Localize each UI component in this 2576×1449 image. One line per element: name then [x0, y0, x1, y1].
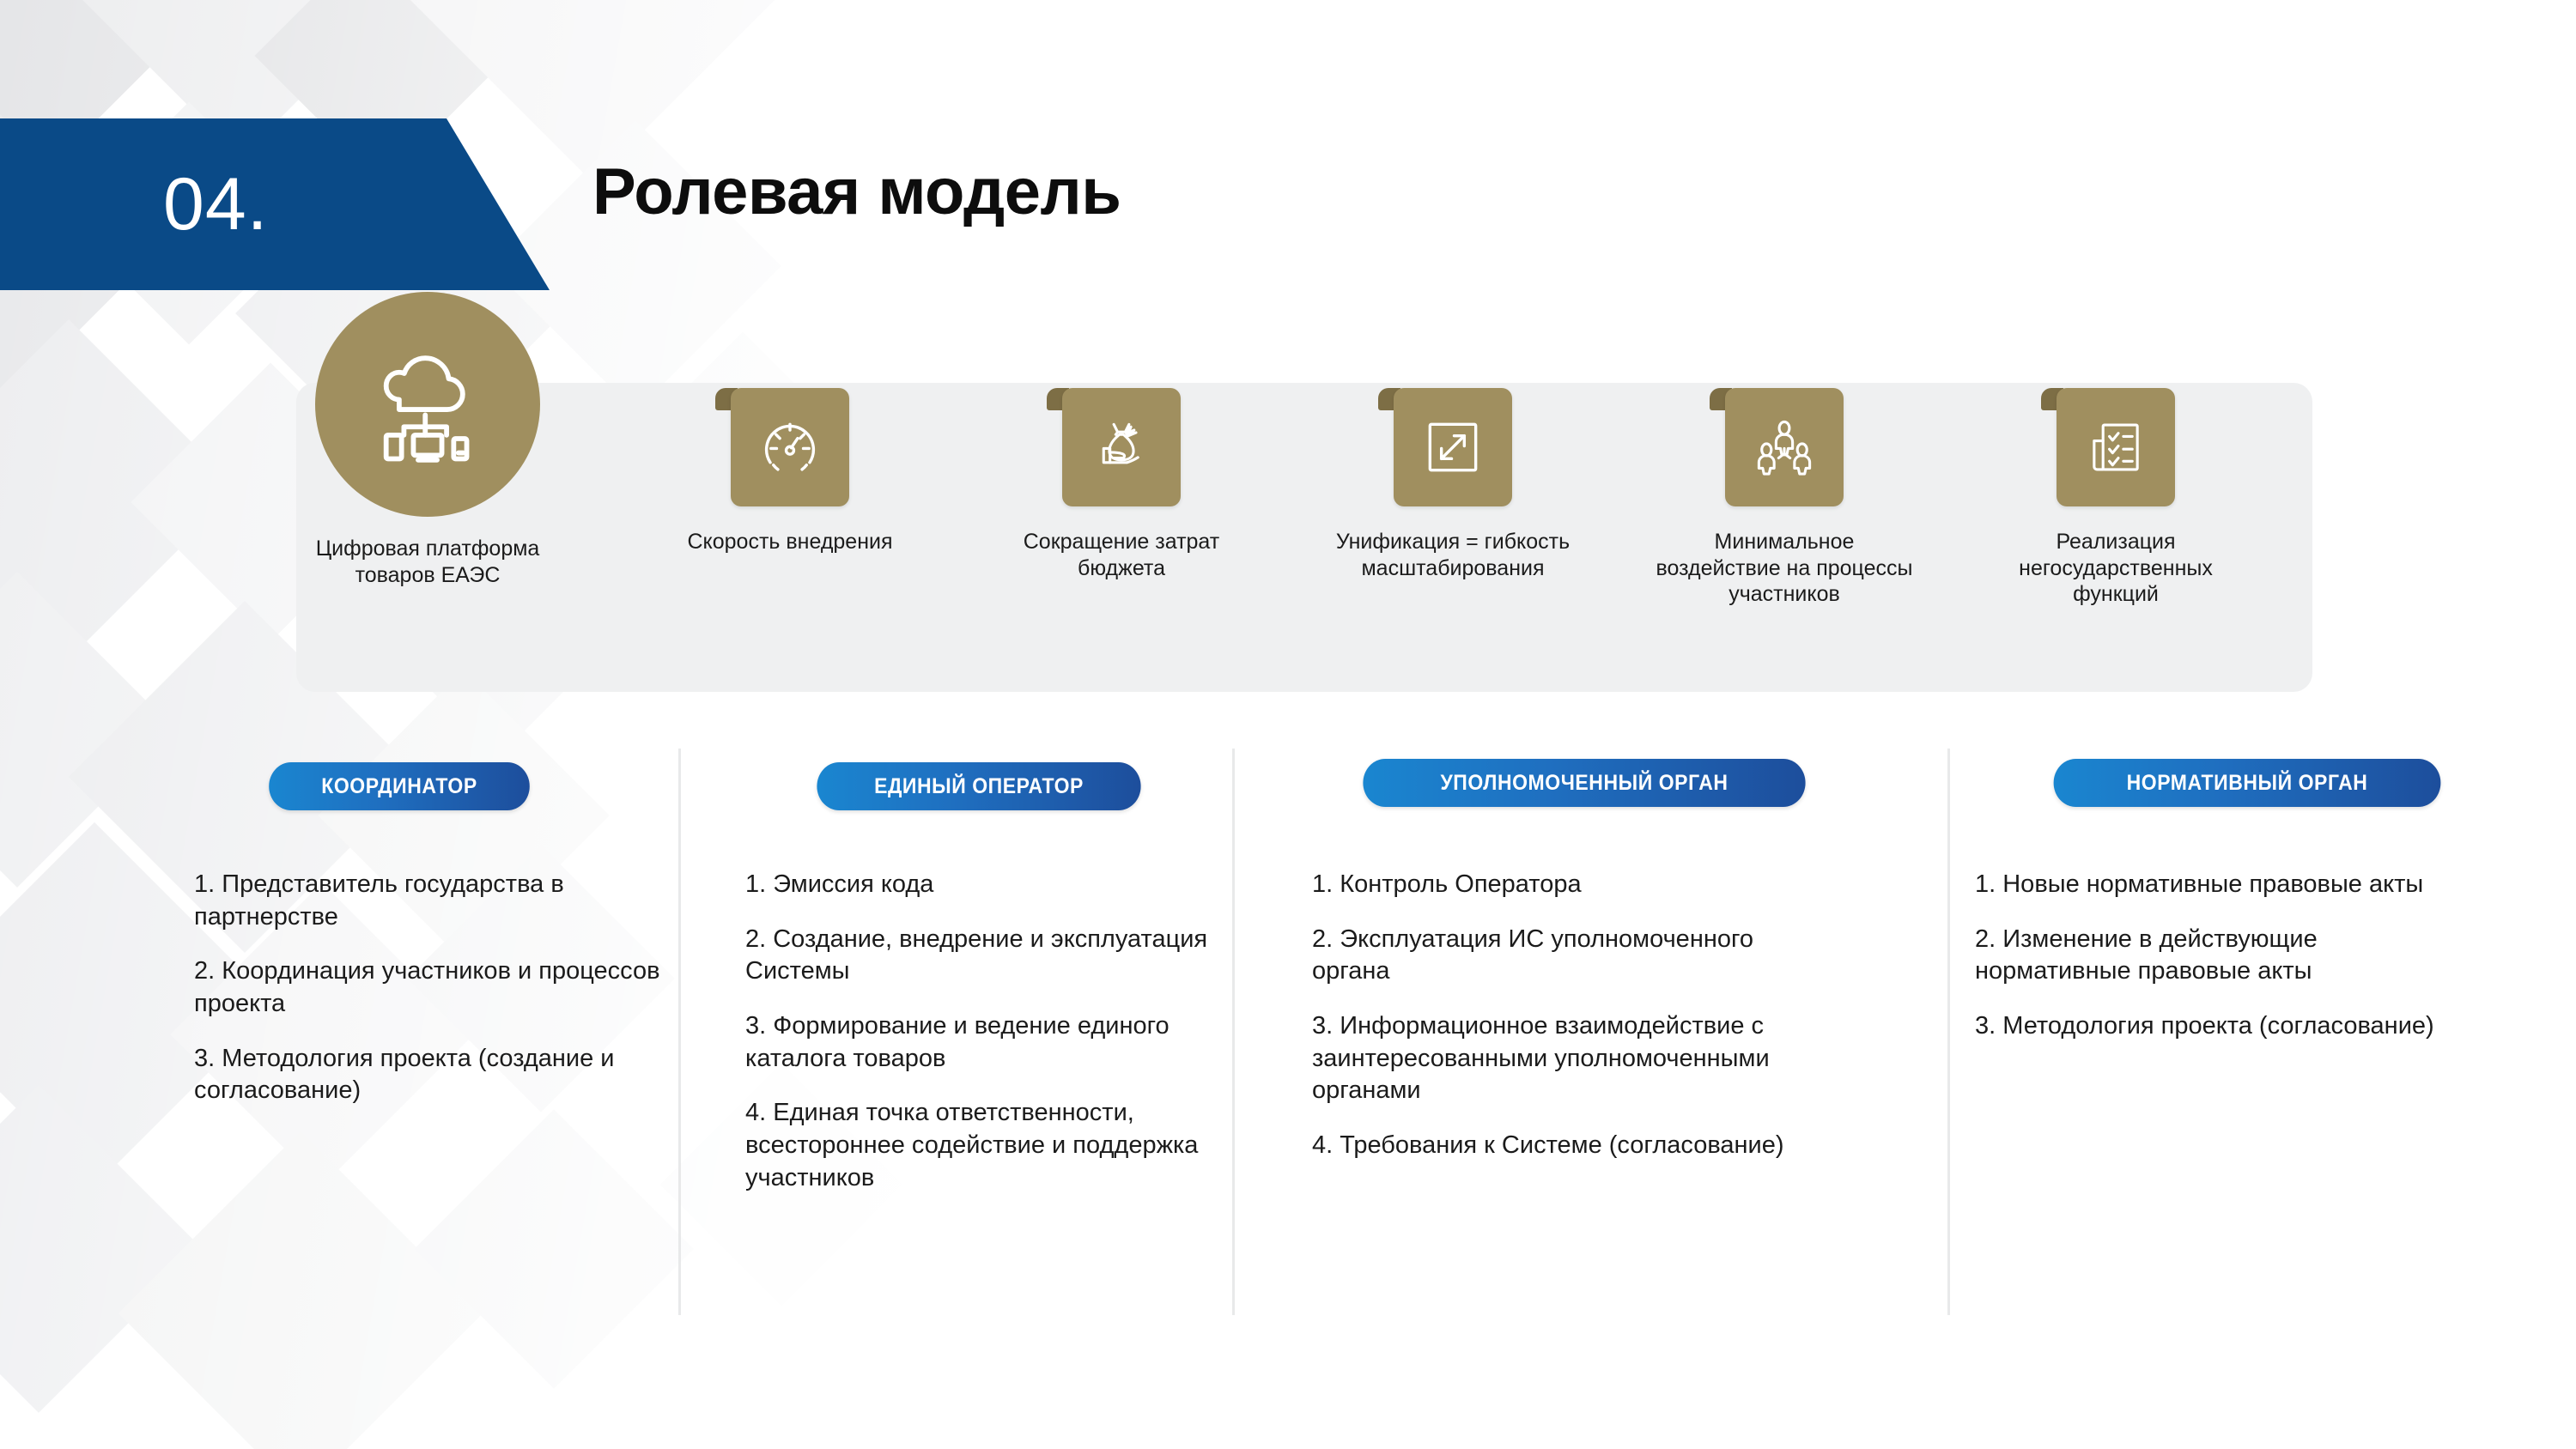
role-column-authorized-body: 1. Контроль Оператора 2. Эксплуатация ИС… [1312, 869, 1810, 1185]
benefit-item-cloud-platform: Цифровая платформа товаров ЕАЭС [286, 292, 569, 588]
column-divider [678, 749, 681, 1315]
role-list-item: 3. Методология проекта (согласование) [1975, 1010, 2456, 1043]
role-badge-label: НОРМАТИВНЫЙ ОРГАН [2127, 771, 2368, 796]
slide-number: 04. [163, 167, 269, 241]
speedometer-icon [731, 388, 849, 506]
benefit-caption: Скорость внедрения [661, 529, 919, 555]
benefit-item-nongov-functions: Реализация негосударственных функций [1974, 292, 2257, 608]
column-divider [1947, 749, 1950, 1315]
role-list-item: 3. Методология проекта (создание и согла… [194, 1043, 675, 1107]
benefit-caption: Унификация = гибкость масштабирования [1324, 529, 1582, 581]
benefit-item-unification: Унификация = гибкость масштабирования [1311, 292, 1595, 581]
benefit-item-budget: Сокращение затрат бюджета [980, 292, 1263, 581]
role-list-item: 2. Изменение в действующие нормативные п… [1975, 924, 2456, 988]
role-column-coordinator: 1. Представитель государства в партнерст… [194, 869, 675, 1130]
benefit-caption: Цифровая платформа товаров ЕАЭС [299, 536, 556, 588]
role-badge-regulatory-body[interactable]: НОРМАТИВНЫЙ ОРГАН [2054, 759, 2441, 807]
role-list-item: 1. Эмиссия кода [745, 869, 1235, 901]
role-list-item: 3. Информационное взаимодействие с заинт… [1312, 1010, 1810, 1107]
role-list-item: 4. Единая точка ответственности, всестор… [745, 1097, 1235, 1194]
role-badge-coordinator[interactable]: КООРДИНАТОР [269, 762, 530, 810]
role-column-single-operator: 1. Эмиссия кода 2. Создание, внедрение и… [745, 869, 1235, 1217]
cloud-network-icon [315, 292, 540, 517]
benefit-caption: Сокращение затрат бюджета [993, 529, 1250, 581]
role-list-item: 1. Контроль Оператора [1312, 869, 1810, 901]
role-badge-authorized-body[interactable]: УПОЛНОМОЧЕННЫЙ ОРГАН [1363, 759, 1805, 807]
benefit-caption: Реализация негосударственных функций [1987, 529, 2245, 608]
role-list-item: 1. Новые нормативные правовые акты [1975, 869, 2456, 901]
benefit-item-minimal-impact: Минимальное воздействие на процессы учас… [1643, 292, 1926, 608]
role-list-item: 2. Создание, внедрение и эксплуатация Си… [745, 924, 1235, 988]
benefits-row: Цифровая платформа товаров ЕАЭС Скорость… [296, 292, 2312, 704]
role-list-item: 3. Формирование и ведение единого катало… [745, 1010, 1235, 1075]
role-column-regulatory-body: 1. Новые нормативные правовые акты 2. Из… [1975, 869, 2456, 1065]
benefit-item-speed: Скорость внедрения [648, 292, 932, 555]
people-group-icon [1725, 388, 1844, 506]
role-badge-label: КООРДИНАТОР [321, 774, 477, 799]
role-list-item: 2. Координация участников и процессов пр… [194, 955, 675, 1020]
role-list-item: 2. Эксплуатация ИС уполномоченного орган… [1312, 924, 1810, 988]
checklist-clipboard-icon [2057, 388, 2175, 506]
role-badge-label: УПОЛНОМОЧЕННЫЙ ОРГАН [1440, 771, 1728, 796]
role-badge-single-operator[interactable]: ЕДИНЫЙ ОПЕРАТОР [817, 762, 1140, 810]
slide-number-banner: 04. [0, 118, 550, 290]
page-title: Ролевая модель [592, 155, 1121, 229]
money-bag-hand-icon [1062, 388, 1181, 506]
role-list-item: 4. Требования к Системе (согласование) [1312, 1130, 1810, 1162]
role-list-item: 1. Представитель государства в партнерст… [194, 869, 675, 933]
slide-root: 04. Ролевая модель Цифровая платформа то… [0, 0, 2576, 1449]
benefit-caption: Минимальное воздействие на процессы учас… [1656, 529, 1913, 608]
role-badge-label: ЕДИНЫЙ ОПЕРАТОР [874, 774, 1084, 799]
expand-arrows-icon [1394, 388, 1512, 506]
